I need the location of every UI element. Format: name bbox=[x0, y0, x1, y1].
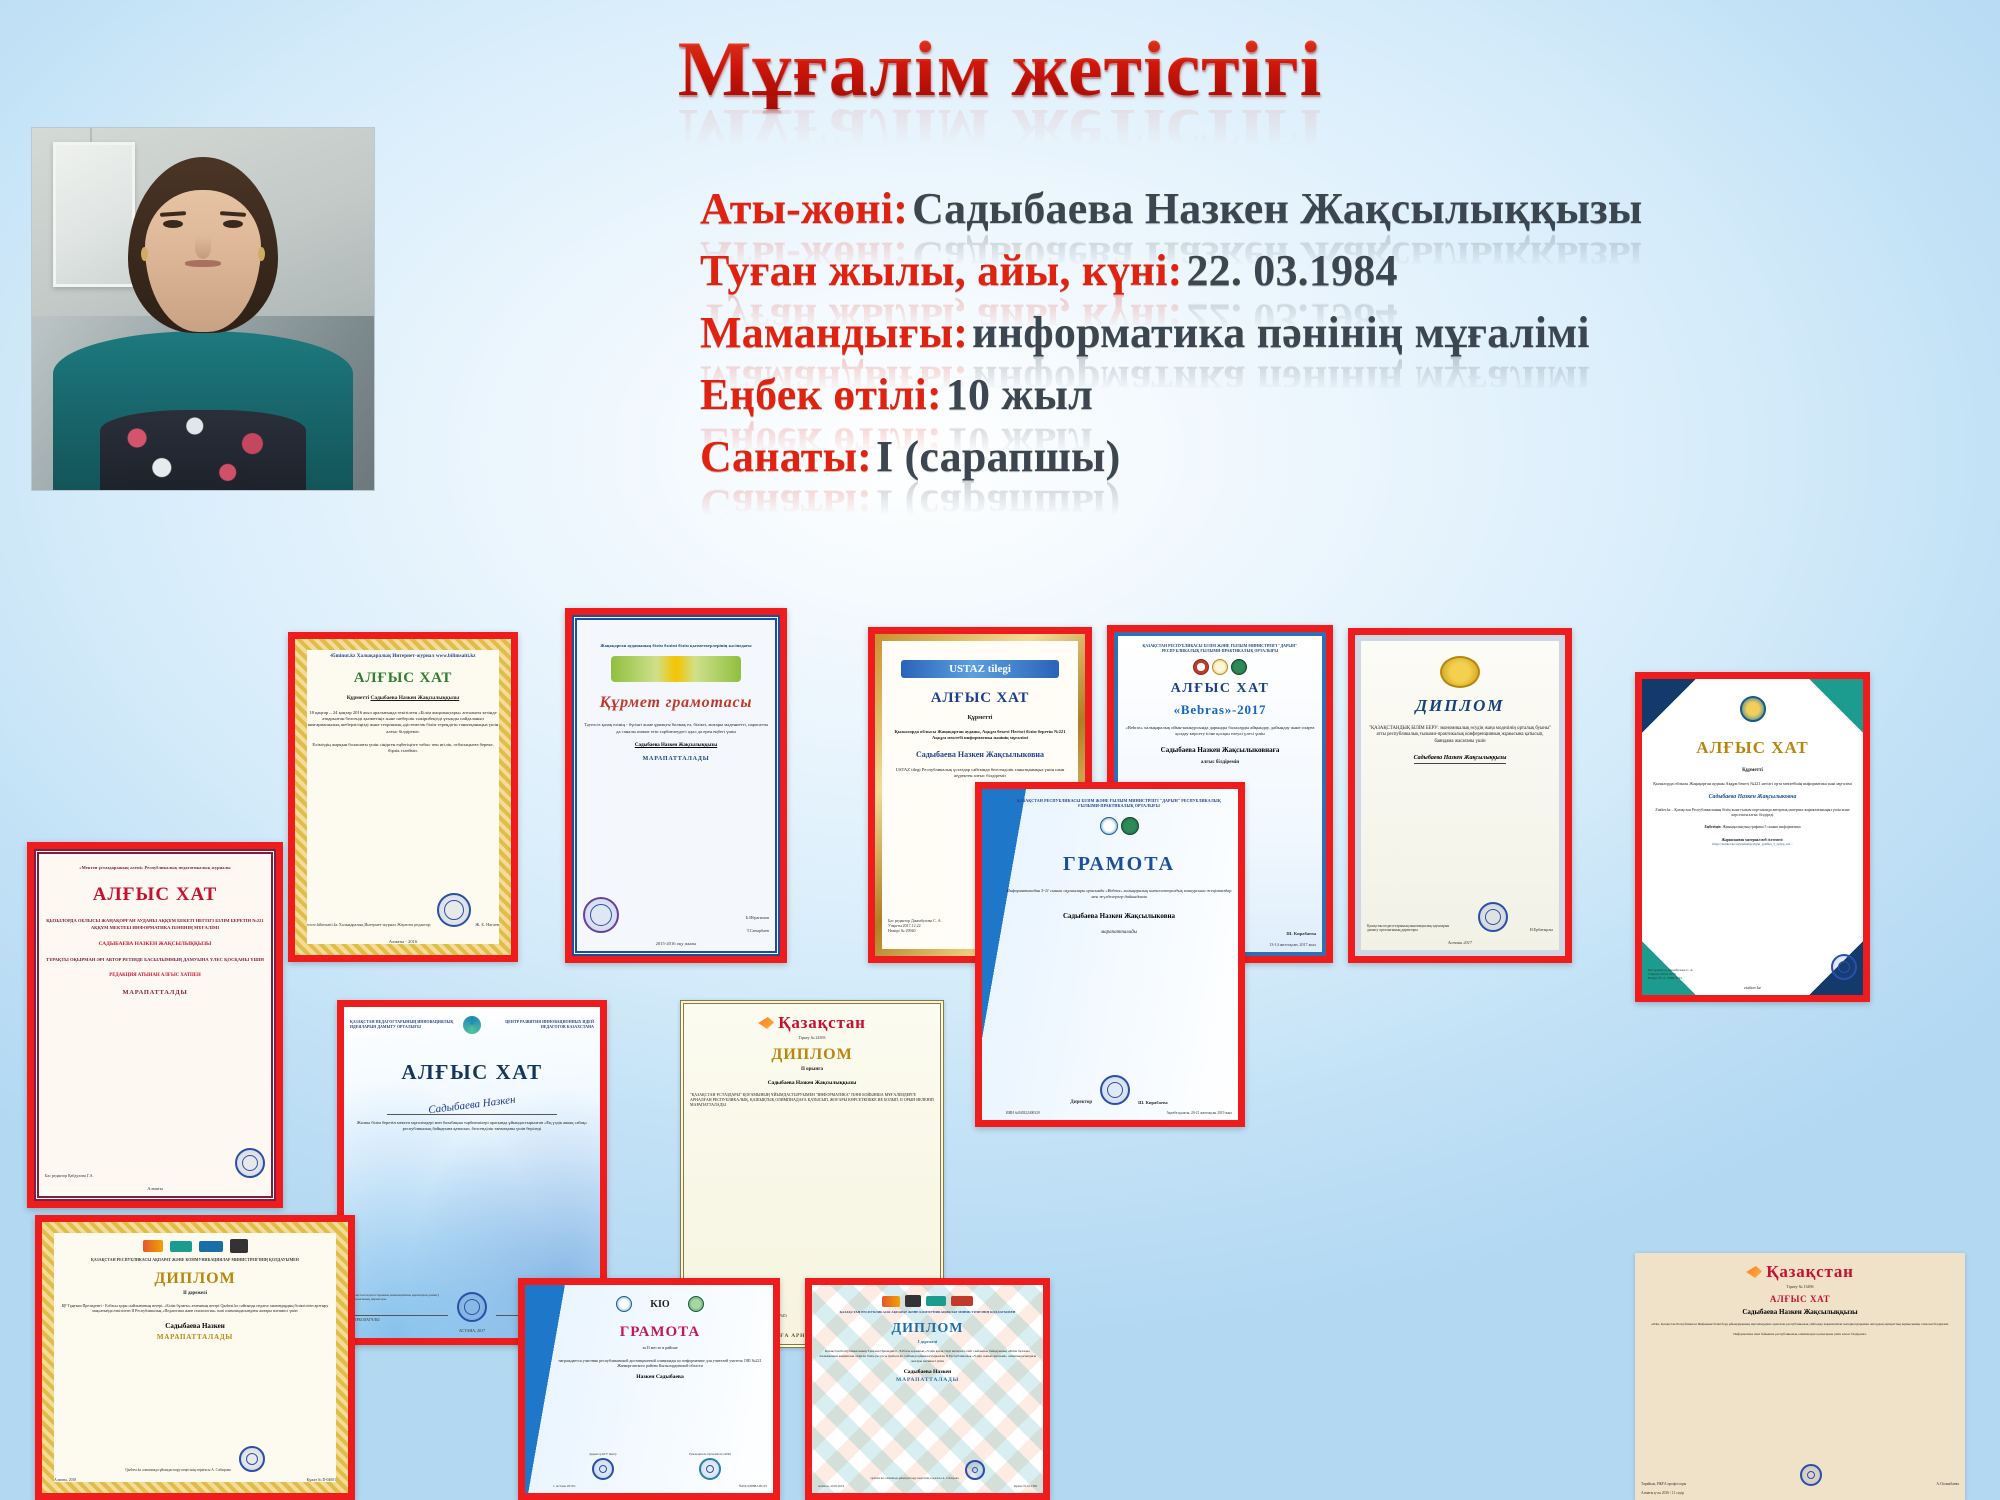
certificate-signature-label: Qazbest.kz олимпиада ұйымдастыру кеңесін… bbox=[870, 1476, 958, 1480]
official-seal-icon bbox=[1831, 954, 1857, 980]
certificate-thumbnail[interactable]: АЛҒЫС ХАТ Құрметті Қызылорда облысы Жаңа… bbox=[1635, 672, 1870, 1002]
certificate-org: ҚАЗАҚСТАН РЕСПУБЛИКАСЫ АҚПАРАТ ЖӘНЕ КОММ… bbox=[91, 1258, 299, 1263]
ozattar-logo-icon bbox=[905, 1295, 921, 1307]
certificate-thumbnail[interactable]: «Мектеп ұстаздарының әлемі» Республикалы… bbox=[27, 842, 283, 1208]
certificate-brand: Қазақстан bbox=[1766, 1262, 1854, 1282]
certificate-link[interactable]: https://ziatker.kz/ru/jandashyrylgan_gra… bbox=[1712, 842, 1792, 847]
certificate-awarded-word: МАРАПАТТАЛДЫ bbox=[122, 989, 187, 996]
info-row-reflection: Санаты: I (сарапшы) bbox=[700, 478, 1120, 532]
certificate-reg-number: Тіркеу № 13496 bbox=[1787, 1284, 1814, 1289]
certificate-signature-left-label: Директор КГУ Центр bbox=[589, 1452, 616, 1456]
official-seal-icon bbox=[592, 1458, 614, 1480]
certificate-footer-left: Бас редактор Қабдулова Г.А. bbox=[45, 1173, 94, 1178]
latvia-flag-icon bbox=[1193, 659, 1209, 675]
certificate-heading: АЛҒЫС ХАТ bbox=[93, 884, 218, 906]
info-value: 22. 03.1984 bbox=[1186, 246, 1397, 295]
info-label: Еңбек өтілі: bbox=[700, 370, 942, 419]
maktebi-logo-icon bbox=[951, 1296, 973, 1306]
certificate-recipient-prefix: Құрметті bbox=[968, 715, 993, 723]
certificate-place-date: АСТАНА, 2017 bbox=[459, 1328, 485, 1333]
certificate-body-2: Информатика пәні бойынша республикалық о… bbox=[1733, 1332, 1866, 1337]
skills-academy-logo-icon bbox=[143, 1240, 163, 1252]
certificate-thumbnail[interactable]: 45minut.kz Халықаралық Интернет-журнал w… bbox=[288, 632, 518, 962]
certificate-heading: Құрмет грамотасы bbox=[600, 694, 753, 712]
certificate-footer-left: www.bilimsaiti.kz Халықаралық Интернет-ж… bbox=[307, 922, 433, 927]
certificate-awarded-word: МАРАПАТТАЛАДЫ bbox=[643, 756, 710, 762]
certificate-org: «Мектеп ұстаздарының әлемі» Республикалы… bbox=[79, 865, 230, 870]
certificate-org: ҚАЗАҚСТАН РЕСПУБЛИКАСЫ БІЛІМ ЖӘНЕ ҒЫЛЫМ … bbox=[1006, 799, 1232, 809]
certificate-signature-right-label: Руководитель Оргкомитета КИО bbox=[689, 1452, 731, 1456]
info-label: Аты-жөні: bbox=[700, 184, 908, 233]
certificate-recipient-prefix: Құрметті Садыбаева Назкен Жақсылыққызы bbox=[347, 695, 460, 702]
certificate-recipient: Садыбаева Назкен Жақсылыққызы bbox=[635, 743, 717, 748]
kio-logo-text: KIO bbox=[650, 1299, 669, 1310]
certificate-awarded-word: МАРАПАТТАЛАДЫ bbox=[896, 1377, 959, 1383]
official-seal-icon bbox=[437, 893, 471, 927]
qazbest-logo-icon bbox=[926, 1296, 946, 1306]
info-label: Санаты: bbox=[700, 432, 872, 481]
qazaqstan-logo-icon bbox=[758, 1017, 774, 1029]
certificate-face: ҚАЗАҚСТАН РЕСПУБЛИКАСЫ БІЛІМ ЖӘНЕ ҒЫЛЫМ … bbox=[982, 789, 1238, 1120]
portrait-nose bbox=[195, 237, 211, 259]
certificate-place-date: 2015-2016 оқу жылы bbox=[656, 941, 697, 946]
certificate-org: Жаңақорған ауданының білім бөлімі білім … bbox=[600, 643, 751, 648]
certificate-heading: АЛҒЫС ХАТ bbox=[401, 1060, 542, 1085]
certificate-place: Алматы bbox=[147, 1186, 163, 1191]
skills-academy-logo-icon bbox=[882, 1296, 900, 1307]
certificate-thumbnail[interactable]: ДИПЛОМ "ҚАЗАҚСТАНДЫҚ БІЛІМ БЕРУ: экономи… bbox=[1348, 628, 1572, 963]
certificate-recipient: Садыбаева Назкен bbox=[904, 1369, 952, 1375]
certificate-signature-name: Ш. Кирабаева bbox=[1286, 931, 1316, 936]
info-row-name: Аты-жөні: Садыбаева Назкен Жақсылыққызы … bbox=[700, 182, 1960, 238]
info-label: Туған жылы, айы, күні: bbox=[700, 246, 1182, 295]
certificate-face: Қазақстан Тіркеу № 13496 АЛҒЫС ХАТ Садыб… bbox=[1635, 1253, 1965, 1500]
certificate-degree: II орынға bbox=[801, 1067, 823, 1074]
info-row-category: Санаты: I (сарапшы) Санаты: I (сарапшы) bbox=[700, 430, 1960, 486]
certificate-brand: Қазақстан bbox=[778, 1013, 866, 1033]
certificate-recipient: Садыбаева Назкен Жақсылыковна bbox=[1063, 912, 1175, 920]
portrait-mouth bbox=[185, 260, 221, 267]
certificate-thumbnail[interactable]: KIO ГРАМОТА за II место в районе награжд… bbox=[518, 1278, 780, 1500]
official-seal-icon bbox=[457, 1292, 487, 1322]
certificate-signature-right: Т.Сағырбаев bbox=[746, 928, 769, 933]
certificate-body: «Bebras» халықаралық ойын-конкурсында да… bbox=[1124, 725, 1316, 737]
portrait-floral-top bbox=[100, 410, 306, 490]
certificate-body: ҚЫЗЫЛОРДА ОБЛЫСЫ ЖАҢАҚОРҒАН АУДАНЫ АҚҚҰМ… bbox=[45, 918, 265, 930]
teacher-info-block: Аты-жөні: Садыбаева Назкен Жақсылыққызы … bbox=[700, 182, 1960, 492]
maktebi-logo-icon bbox=[199, 1241, 223, 1252]
info-row-experience: Еңбек өтілі: 10 жыл Еңбек өтілі: 10 жыл bbox=[700, 368, 1960, 424]
info-label: Мамандығы: bbox=[700, 308, 968, 357]
certificate-subject: «Bebras»-2017 bbox=[1174, 702, 1267, 718]
daryn-logo-icon bbox=[1231, 659, 1247, 675]
certificate-body: «Өзін, Қазақстан Республикасы Инфекция б… bbox=[1651, 1322, 1949, 1327]
state-emblem-ribbon-icon bbox=[611, 656, 741, 682]
certificate-heading: АЛҒЫС ХАТ bbox=[931, 690, 1029, 707]
certificate-signature-name: Ш. Кирабаева bbox=[1138, 1100, 1168, 1105]
certificate-body: Ziatker.kz – Қазақстан Республикасының б… bbox=[1648, 808, 1857, 818]
certificate-org: ҚАЗАҚСТАН РЕСПУБЛИКАСЫ БІЛІМ ЖӘНЕ ҒЫЛЫМ … bbox=[1124, 644, 1316, 653]
official-seal-icon bbox=[1478, 902, 1508, 932]
certificate-heading: ДИПЛОМ bbox=[771, 1046, 852, 1064]
certificate-heading: ДИПЛОМ bbox=[154, 1270, 235, 1288]
certificate-org-right: ЦЕНТР РАЗВИТИЯ ИННОВАЦИОННЫХ ИДЕЙ ПЕДАГО… bbox=[487, 1020, 594, 1029]
kazpid-logo-icon bbox=[463, 1016, 481, 1034]
certificate-date: 13-14 желтоқсан, 2017 жыл bbox=[1269, 942, 1316, 947]
certificate-degree: II дәрежелі bbox=[183, 1291, 207, 1297]
certificate-doc-number: Құжат № D-1399 bbox=[1014, 1484, 1037, 1488]
official-seal-icon bbox=[583, 897, 619, 933]
certificate-place-date: Ақтөбе қаласы, 20-21 желтоқсан 2019 жыл bbox=[1166, 1111, 1232, 1115]
slide-title-container: Мұғалім жетістігі bbox=[0, 28, 2000, 109]
ziatker-logo-icon bbox=[1740, 696, 1766, 722]
certificate-recipient: Садыбаева Назкен Жақсылыққызы bbox=[1414, 755, 1507, 764]
certificate-heading: АЛҒЫС ХАТ bbox=[1171, 681, 1270, 697]
certificate-body: Информатикадан 5-11 сынып оқушылары арас… bbox=[1006, 888, 1232, 900]
certificate-body: награждается участник республиканской ди… bbox=[553, 1358, 767, 1369]
certificate-body-2: Еліміздің жарқын болашағы үшін сіңірген … bbox=[307, 742, 499, 754]
certificate-awarded-word: марапатталады bbox=[1101, 930, 1137, 937]
official-seal-icon bbox=[1800, 1464, 1822, 1486]
daryn-logo-icon bbox=[1121, 817, 1139, 835]
certificate-doc-number: Құжат № D-04001 bbox=[307, 1478, 336, 1482]
certificate-heading: ДИПЛОМ bbox=[1415, 696, 1504, 716]
certificate-place-date: Алматы - 2016 bbox=[389, 939, 418, 944]
certificate-thumbnail[interactable]: Қазақстан Тіркеу № 13496 АЛҒЫС ХАТ Садыб… bbox=[1635, 1253, 1965, 1500]
certificate-face: АЛҒЫС ХАТ Құрметті Қызылорда облысы Жаңа… bbox=[1642, 679, 1863, 995]
certificate-body-2: ТҰРАҚТЫ ОҚЫРМАН ӘРІ АВТОР РЕТІНДЕ БАСЫЛЫ… bbox=[46, 957, 264, 963]
certificate-signature-left-name: Қ. ЕРБОЛАТҰЛЫ bbox=[350, 1318, 448, 1322]
official-seal-icon bbox=[1100, 1075, 1130, 1105]
certificate-thumbnail[interactable]: ҚАЗАҚСТАН РЕСПУБЛИКАСЫ АҚПАРАТ ЖӘНЕ КОММ… bbox=[35, 1215, 355, 1500]
info-row-birthdate: Туған жылы, айы, күні: 22. 03.1984 Туған… bbox=[700, 244, 1960, 300]
certificate-face: ДИПЛОМ "ҚАЗАҚСТАНДЫҚ БІЛІМ БЕРУ: экономи… bbox=[1355, 635, 1565, 956]
certificate-org-left: ҚАЗАҚСТАН ПЕДАГОГТАРЫНЫҢ ИННОВАЦИЯЛЫҚ ИД… bbox=[350, 1020, 457, 1029]
certificate-subtitle: за II место в районе bbox=[642, 1345, 677, 1351]
certificate-work: Жиындылықтың графика 5 сынып информатика bbox=[1722, 825, 1800, 829]
ozattar-logo-icon bbox=[230, 1239, 248, 1253]
kio-left-logo-icon bbox=[616, 1296, 632, 1312]
certificate-place: Алматы, 2018 bbox=[54, 1478, 76, 1482]
certificate-face: 45minut.kz Халықаралық Интернет-журнал w… bbox=[295, 639, 511, 955]
official-seal-icon bbox=[965, 1460, 985, 1480]
certificate-awarded-word: МАРАПАТТАЛАДЫ bbox=[157, 1333, 233, 1341]
page-title: Мұғалім жетістігі bbox=[678, 28, 1323, 109]
certificate-work-label: Еңбегіңіз: bbox=[1704, 825, 1721, 829]
certificate-body: ҚР Тұңғыш Президенті - Елбасы қоры сыйлы… bbox=[54, 1303, 336, 1314]
certificate-thumbnail[interactable]: Жаңақорған ауданының білім бөлімі білім … bbox=[565, 608, 787, 963]
certificate-body: Қазақстан Республикасының Тұңғыш Президе… bbox=[818, 1349, 1037, 1363]
portrait-wall-frame bbox=[53, 142, 135, 287]
certificate-closing: алғыс білдіремін bbox=[1201, 760, 1239, 767]
certificate-site: ziatker.kz bbox=[1744, 985, 1761, 990]
certificate-signature-label: Төрайым, РЖҒА профессоры bbox=[1641, 1482, 1686, 1486]
info-row-specialty: Мамандығы: информатика пәнінің мұғалімі … bbox=[700, 306, 1960, 362]
certificate-signature-label: Директор bbox=[1070, 1100, 1092, 1105]
certificate-recipient: Садыбаева Назкен Жақсылыковна bbox=[916, 750, 1044, 759]
info-value: 10 жыл bbox=[946, 370, 1093, 419]
certificate-thumbnail[interactable]: ҚАЗАҚСТАН РЕСПУБЛИКАСЫ БІЛІМ ЖӘНЕ ҒЫЛЫМ … bbox=[975, 782, 1245, 1127]
certificate-place: Алматы, 2018-2019 bbox=[818, 1484, 844, 1488]
ministry-logo-icon bbox=[1100, 817, 1118, 835]
certificate-recipient: Назкен Садыбаева bbox=[636, 1374, 684, 1380]
kio-right-logo-icon bbox=[688, 1296, 704, 1312]
certificate-face: «Мектеп ұстаздарының әлемі» Республикалы… bbox=[34, 849, 276, 1201]
certificate-face: ҚАЗАҚСТАН РЕСПУБЛИКАСЫ АҚПАРАТ ЖӘНЕ КОММ… bbox=[42, 1222, 348, 1493]
certificate-org: Қызылорда облысы Жаңақорған ауданы Аққұм… bbox=[1653, 781, 1852, 787]
certificate-org: 45minut.kz Халықаралық Интернет-журнал w… bbox=[330, 654, 475, 660]
certificate-signature-name: А.Оспанбаева bbox=[1936, 1482, 1959, 1486]
certificate-org: Қызылорда облысы Жаңақорған ауданы, Аққұ… bbox=[888, 729, 1072, 741]
certificate-body: 18 қаңтар – 24 қаңтар 2016 жыл аралығынд… bbox=[307, 710, 499, 735]
teacher-portrait-photo bbox=[31, 127, 375, 491]
certificate-recipient: Садыбаева Назкен Жақсылыққызы bbox=[768, 1080, 857, 1086]
certificate-thumbnail[interactable]: ҚАЗАҚСТАН РЕСПУБЛИКАСЫ АҚПАРАТ ЖӘНЕ КОММ… bbox=[805, 1278, 1050, 1500]
certificate-recipient-prefix: Құрметті bbox=[1742, 768, 1763, 775]
official-seal-icon-2 bbox=[699, 1458, 721, 1480]
certificate-body: "ҚАЗАҚСТАН ҰСТАЗДАРЫ" ҚОҒАМЫНЫҢ ҰЙЫМДАСТ… bbox=[690, 1092, 934, 1108]
qazbest-logo-icon bbox=[170, 1241, 192, 1252]
certificate-reg-number: Тіркеу № 24393 bbox=[799, 1035, 826, 1040]
info-value: Садыбаева Назкен Жақсылыққызы bbox=[912, 184, 1642, 233]
official-seal-icon bbox=[239, 1446, 265, 1472]
certificate-heading: ГРАМОТА bbox=[620, 1324, 701, 1341]
certificate-body-3: РЕДАКЦИЯ АТЫНАН АЛҒЫС ХАТПЕН bbox=[109, 973, 200, 979]
certificate-recipient: Садыбаева Назкен bbox=[165, 1322, 224, 1330]
certificate-recipient: САДЫБАЕВА НАЗКЕН ЖАҚСЫЛЫҚҚЫЗЫ bbox=[99, 941, 212, 947]
certificate-place-date: Алматы қ-сы 2016 / 11 сәуір bbox=[1641, 1491, 1684, 1495]
certificate-heading: АЛҒЫС ХАТ bbox=[1696, 738, 1808, 758]
presentation-slide: Мұғалім жетістігі Мұғалім жетістігі Аты-… bbox=[0, 0, 2000, 1500]
info-value: информатика пәнінің мұғалімі bbox=[972, 308, 1590, 357]
certificate-link-label: Жарияланған материал веб сілтемесі: bbox=[1722, 838, 1784, 842]
certificate-recipient: Садыбаева Назкен Жақсылыковнаға bbox=[1161, 746, 1280, 754]
certificate-signature-left-label: Қазақстан педагогтарының инновациялық ид… bbox=[350, 1293, 448, 1301]
certificate-body: Тәуелсіз қазақ елінің - бүгінгі және ұрп… bbox=[583, 722, 769, 734]
official-seal-icon bbox=[235, 1148, 265, 1178]
certificate-signature-label: Қазақстан педагогтарының инновациялық ид… bbox=[1367, 924, 1456, 932]
ustaz-banner: USTAZ tilegi bbox=[901, 660, 1059, 678]
certificate-body: "ҚАЗАҚСТАНДЫҚ БІЛІМ БЕРУ: экономикалық ө… bbox=[1367, 726, 1553, 745]
info-value: I (сарапшы) bbox=[876, 432, 1120, 481]
certificate-place-date: г. Астана 2018 г. bbox=[553, 1484, 576, 1488]
certificate-signature-label: Qazbest.kz олимпиада ұйымдастыру кеңесін… bbox=[125, 1468, 231, 1472]
certificate-recipient: Садыбаева Назкен Жақсылыққызы bbox=[1742, 1308, 1857, 1316]
certificate-body: USTAZ tilegi Республикалық ұстаздар сайт… bbox=[888, 767, 1072, 779]
certificate-footer-number: Нөмірі № А-159625344 bbox=[1648, 976, 1693, 980]
certificate-signature-name: Н.Ербатырлы bbox=[1530, 927, 1553, 932]
bebras-medal-icon bbox=[1212, 659, 1228, 675]
handwritten-signature: Садыбаева Назкен bbox=[428, 1094, 517, 1117]
certificate-iin: ИИН №840322400329 bbox=[1006, 1111, 1040, 1115]
certificate-heading: ДИПЛОМ bbox=[892, 1321, 964, 1337]
certificate-face: KIO ГРАМОТА за II место в районе награжд… bbox=[525, 1285, 773, 1493]
gold-medal-icon bbox=[1440, 656, 1480, 688]
certificate-body: Жалпы білім беретін мектеп мұғалімдері м… bbox=[350, 1120, 594, 1132]
certificate-place-date: Астана 2017 bbox=[1448, 940, 1472, 945]
certificate-heading: ГРАМОТА bbox=[1063, 853, 1175, 876]
qazaqstan-logo-icon bbox=[1746, 1266, 1762, 1278]
certificate-signature-left: Б.Ибрагимов bbox=[746, 915, 769, 920]
certificate-heading: АЛҒЫС ХАТ bbox=[1770, 1294, 1830, 1304]
certificate-doc-number: №РД1438882-ВС03 bbox=[739, 1484, 767, 1488]
certificate-face: Жаңақорған ауданының білім бөлімі білім … bbox=[572, 615, 780, 956]
certificate-footer-right: Ж. Б. Нагаев bbox=[475, 922, 499, 927]
certificate-heading: АЛҒЫС ХАТ bbox=[354, 670, 452, 687]
certificate-degree: I дәрежелі bbox=[918, 1339, 937, 1344]
certificate-face: ҚАЗАҚСТАН РЕСПУБЛИКАСЫ АҚПАРАТ ЖӘНЕ КОММ… bbox=[812, 1285, 1043, 1493]
certificate-org: ҚАЗАҚСТАН РЕСПУБЛИКАСЫ АҚПАРАТ ЖӘНЕ КОММ… bbox=[840, 1311, 1016, 1315]
certificate-recipient: Садыбаева Назкен Жақсылыковна bbox=[1709, 794, 1797, 800]
